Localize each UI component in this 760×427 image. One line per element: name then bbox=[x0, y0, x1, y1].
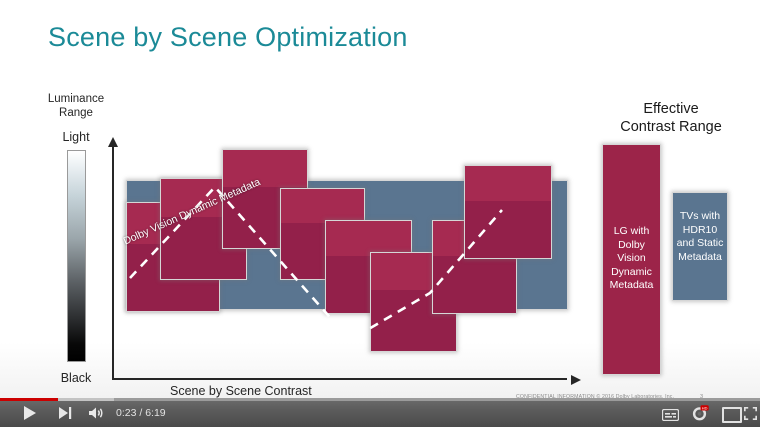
gear-icon[interactable]: HD bbox=[692, 405, 708, 421]
luminance-caption-line1: Luminance bbox=[30, 92, 122, 106]
x-axis-arrow-icon bbox=[571, 375, 581, 385]
luminance-gradient-bar bbox=[67, 150, 86, 362]
y-axis bbox=[112, 146, 114, 380]
scene-box bbox=[464, 165, 552, 259]
video-player-controls: 0:23 / 6:19 HD bbox=[0, 398, 760, 427]
page-title: Scene by Scene Optimization bbox=[48, 22, 408, 53]
effective-contrast-title-line1: Effective bbox=[598, 100, 744, 118]
progress-bar-played bbox=[0, 398, 58, 401]
luminance-bottom-label: Black bbox=[30, 371, 122, 385]
effective-contrast-title-line2: Contrast Range bbox=[598, 118, 744, 136]
time-display: 0:23 / 6:19 bbox=[116, 407, 166, 419]
slide-canvas: Scene by Scene Optimization Luminance Ra… bbox=[0, 0, 760, 398]
luminance-legend: Luminance Range Light Black bbox=[30, 92, 122, 385]
luminance-caption: Luminance Range bbox=[30, 92, 122, 120]
progress-bar-track[interactable] bbox=[0, 398, 760, 401]
miniplayer-icon[interactable] bbox=[722, 407, 742, 423]
y-axis-arrow-icon bbox=[108, 137, 118, 147]
play-icon[interactable] bbox=[24, 406, 36, 420]
effective-contrast-bar-hdr10: TVs with HDR10 and Static Metadata bbox=[672, 192, 728, 301]
x-axis-label: Scene by Scene Contrast bbox=[170, 384, 312, 398]
volume-icon[interactable] bbox=[88, 406, 104, 420]
next-track-icon[interactable] bbox=[58, 406, 72, 420]
scene-contrast-plot bbox=[112, 140, 572, 380]
bar-label: LG with Dolby Vision Dynamic Metadata bbox=[603, 225, 660, 293]
x-axis bbox=[112, 378, 567, 380]
luminance-caption-line2: Range bbox=[30, 106, 122, 120]
effective-contrast-bar-dolby-vision: LG with Dolby Vision Dynamic Metadata bbox=[602, 144, 661, 375]
progress-bar-buffer bbox=[58, 398, 114, 401]
svg-text:HD: HD bbox=[702, 405, 708, 410]
fullscreen-icon[interactable] bbox=[744, 407, 757, 420]
video-player-screen: Scene by Scene Optimization Luminance Ra… bbox=[0, 0, 760, 427]
closed-captions-icon[interactable] bbox=[662, 408, 678, 420]
effective-contrast-title: Effective Contrast Range bbox=[598, 100, 744, 136]
bar-label: TVs with HDR10 and Static Metadata bbox=[673, 210, 727, 264]
